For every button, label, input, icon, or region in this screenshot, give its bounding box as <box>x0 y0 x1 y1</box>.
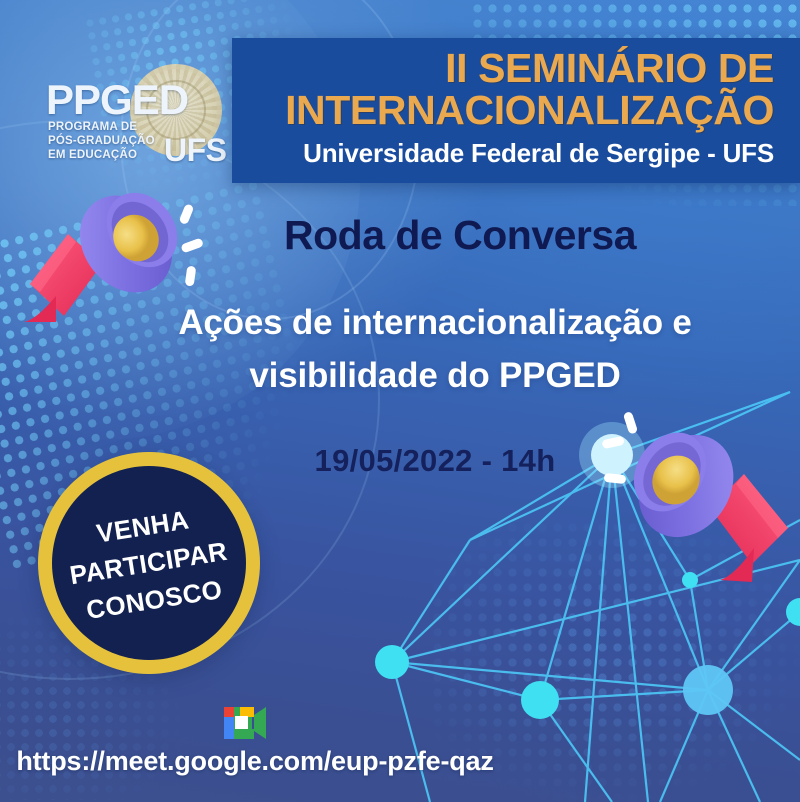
cta-seal-text: VENHA PARTICIPAR CONOSCO <box>62 496 236 630</box>
google-meet-icon <box>218 699 270 747</box>
cta-seal-inner: VENHA PARTICIPAR CONOSCO <box>52 466 246 660</box>
megaphone-icon <box>602 398 800 588</box>
event-poster: PPGED PROGRAMA DE PÓS-GRADUAÇÃO EM EDUCA… <box>0 0 800 802</box>
event-title: II SEMINÁRIO DE INTERNACIONALIZAÇÃO <box>250 48 774 132</box>
cta-seal: VENHA PARTICIPAR CONOSCO <box>38 452 260 674</box>
event-headline-line-1: Ações de internacionalização e <box>178 303 691 342</box>
ufs-logo-acronym: UFS <box>164 132 227 169</box>
event-institution: Universidade Federal de Sergipe - UFS <box>250 138 774 169</box>
event-title-line-1: II SEMINÁRIO DE <box>445 45 774 91</box>
event-datetime: 19/05/2022 - 14h <box>200 443 670 479</box>
ppged-logo: PPGED PROGRAMA DE PÓS-GRADUAÇÃO EM EDUCA… <box>46 62 236 170</box>
event-headline-line-2: visibilidade do PPGED <box>90 349 780 402</box>
ppged-logo-program: PROGRAMA DE PÓS-GRADUAÇÃO EM EDUCAÇÃO <box>48 120 155 162</box>
ppged-program-line-3: EM EDUCAÇÃO <box>48 148 155 162</box>
event-headline: Ações de internacionalização e visibilid… <box>90 296 780 402</box>
event-kicker: Roda de Conversa <box>150 212 770 259</box>
ppged-program-line-2: PÓS-GRADUAÇÃO <box>48 134 155 148</box>
ppged-logo-acronym: PPGED <box>46 76 188 124</box>
ppged-program-line-1: PROGRAMA DE <box>48 120 155 134</box>
event-title-banner: II SEMINÁRIO DE INTERNACIONALIZAÇÃO Univ… <box>232 38 800 183</box>
meeting-url-text[interactable]: https://meet.google.com/eup-pzfe-qaz <box>0 746 510 777</box>
event-title-line-2: INTERNACIONALIZAÇÃO <box>250 90 774 132</box>
